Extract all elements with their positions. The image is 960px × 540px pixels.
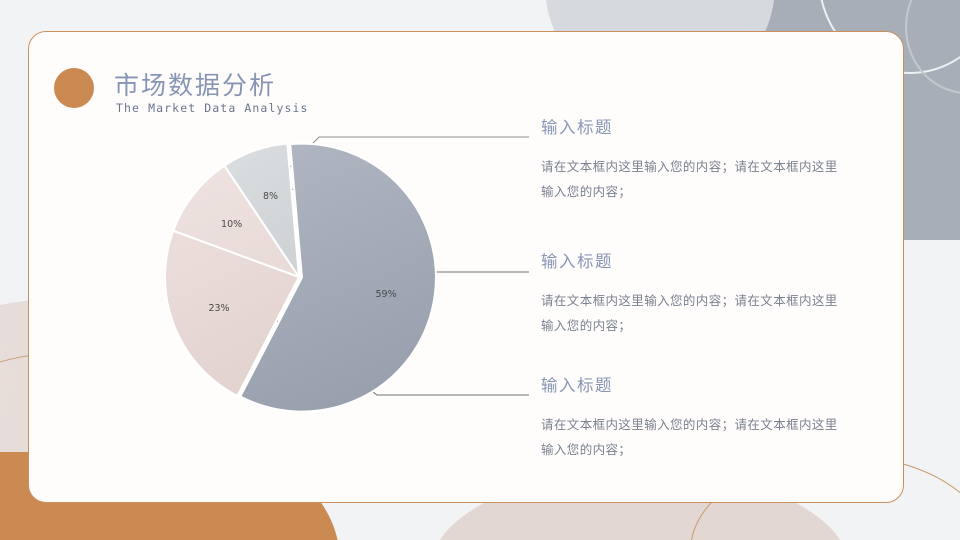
pie-slice-label: 8% [263,191,278,202]
detail-block-2: 输入标题 请在文本框内这里输入您的内容；请在文本框内这里输入您的内容； [541,248,861,338]
pie-slice-label: 59% [376,289,397,300]
detail-heading-2: 输入标题 [541,248,861,272]
decor-bottom-gray-fill [600,500,960,540]
slide-canvas: 市场数据分析 The Market Data Analysis [0,0,960,540]
detail-body-3: 请在文本框内这里输入您的内容；请在文本框内这里输入您的内容； [541,412,841,462]
pie-chart-svg: 59%23%10%8% [139,127,459,427]
detail-heading-1: 输入标题 [541,114,861,138]
decor-white-arc-secondary [905,0,960,94]
decor-beige-circle-left [0,300,10,460]
pie-chart: 59%23%10%8% [139,127,459,427]
detail-body-2: 请在文本框内这里输入您的内容；请在文本框内这里输入您的内容； [541,288,841,338]
detail-body-1: 请在文本框内这里输入您的内容；请在文本框内这里输入您的内容； [541,154,841,204]
pie-slices [165,144,436,412]
detail-block-3: 输入标题 请在文本框内这里输入您的内容；请在文本框内这里输入您的内容； [541,372,861,462]
detail-block-1: 输入标题 请在文本框内这里输入您的内容；请在文本框内这里输入您的内容； [541,114,861,204]
detail-heading-3: 输入标题 [541,372,861,396]
content-card: 市场数据分析 The Market Data Analysis [28,31,904,503]
pie-slice-label: 10% [221,219,242,230]
pie-slice-label: 23% [208,303,229,314]
